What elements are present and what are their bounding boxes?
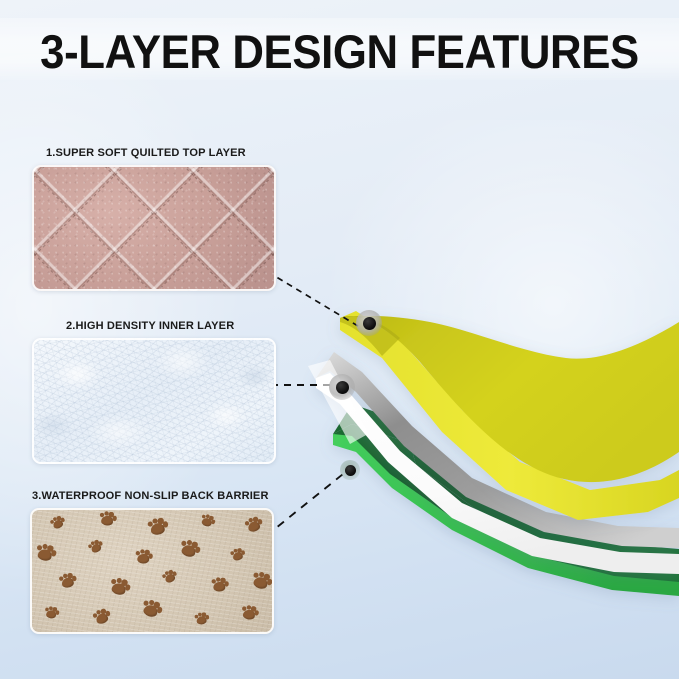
paw-print-icon bbox=[99, 510, 117, 526]
paw-print-icon bbox=[147, 517, 168, 535]
fibre-cluster-overlay bbox=[34, 340, 274, 462]
inner-layer-swatch[interactable] bbox=[32, 338, 276, 464]
paw-print-icon bbox=[194, 612, 208, 625]
callout-high-density-inner-layer: 2.HIGH DENSITY INNER LAYER bbox=[32, 320, 276, 464]
paw-print-icon bbox=[59, 572, 77, 588]
paw-print-icon bbox=[44, 606, 59, 620]
marker-core bbox=[336, 381, 349, 394]
back-barrier-swatch[interactable] bbox=[30, 508, 274, 634]
callout-label-2: 2.HIGH DENSITY INNER LAYER bbox=[66, 320, 270, 332]
callout-super-soft-quilted-top-layer: 1.SUPER SOFT QUILTED TOP LAYER bbox=[32, 147, 276, 291]
paw-print-icon bbox=[240, 604, 259, 621]
fabric-grain-overlay bbox=[34, 167, 274, 289]
paw-print-icon bbox=[211, 577, 228, 592]
infographic-canvas: 3-LAYER DESIGN FEATURES bbox=[0, 0, 679, 679]
callout-waterproof-non-slip-back-barrier: 3.WATERPROOF NON-SLIP BACK BARRIER bbox=[30, 490, 276, 634]
marker-core bbox=[363, 317, 376, 330]
marker-core bbox=[345, 465, 356, 476]
callout-label-1: 1.SUPER SOFT QUILTED TOP LAYER bbox=[46, 147, 269, 159]
callout-label-3: 3.WATERPROOF NON-SLIP BACK BARRIER bbox=[32, 490, 269, 502]
paw-print-icon bbox=[230, 548, 245, 562]
quilted-top-layer-swatch[interactable] bbox=[32, 165, 276, 291]
paw-print-icon bbox=[135, 549, 153, 565]
